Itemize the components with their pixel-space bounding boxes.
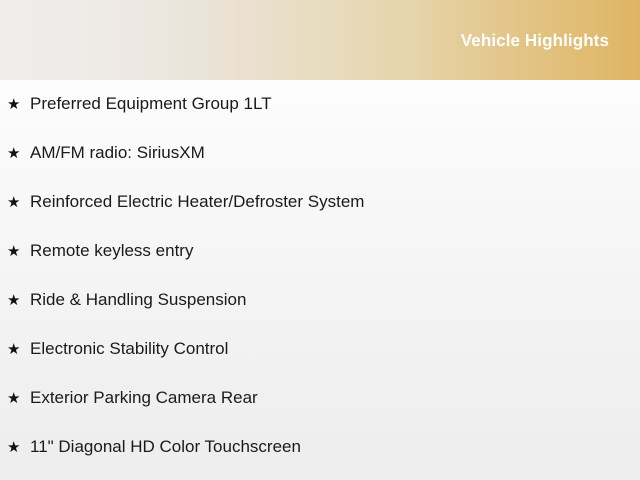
vehicle-highlights-list: ★ Preferred Equipment Group 1LT ★ AM/FM … <box>0 80 640 472</box>
list-item: ★ Electronic Stability Control <box>0 325 640 374</box>
list-item: ★ AM/FM radio: SiriusXM <box>0 129 640 178</box>
star-icon: ★ <box>7 244 30 259</box>
list-item: ★ Remote keyless entry <box>0 227 640 276</box>
star-icon: ★ <box>7 97 30 112</box>
list-item: ★ Preferred Equipment Group 1LT <box>0 80 640 129</box>
vehicle-highlights-panel: Vehicle Highlights ★ Preferred Equipment… <box>0 0 640 480</box>
list-item: ★ Reinforced Electric Heater/Defroster S… <box>0 178 640 227</box>
list-item: ★ Ride & Handling Suspension <box>0 276 640 325</box>
star-icon: ★ <box>7 146 30 161</box>
list-item: ★ Exterior Parking Camera Rear <box>0 374 640 423</box>
star-icon: ★ <box>7 342 30 357</box>
list-item-label: Remote keyless entry <box>30 241 193 261</box>
list-item-label: Reinforced Electric Heater/Defroster Sys… <box>30 192 364 212</box>
star-icon: ★ <box>7 293 30 308</box>
list-item-label: Ride & Handling Suspension <box>30 290 246 310</box>
page-title: Vehicle Highlights <box>461 31 609 51</box>
list-item: ★ 11" Diagonal HD Color Touchscreen <box>0 423 640 472</box>
list-item-label: Electronic Stability Control <box>30 339 228 359</box>
star-icon: ★ <box>7 391 30 406</box>
list-item-label: 11" Diagonal HD Color Touchscreen <box>30 437 301 457</box>
header-bar: Vehicle Highlights <box>0 0 640 80</box>
list-item-label: Exterior Parking Camera Rear <box>30 388 258 408</box>
list-item-label: Preferred Equipment Group 1LT <box>30 94 272 114</box>
list-item-label: AM/FM radio: SiriusXM <box>30 143 205 163</box>
star-icon: ★ <box>7 195 30 210</box>
star-icon: ★ <box>7 440 30 455</box>
